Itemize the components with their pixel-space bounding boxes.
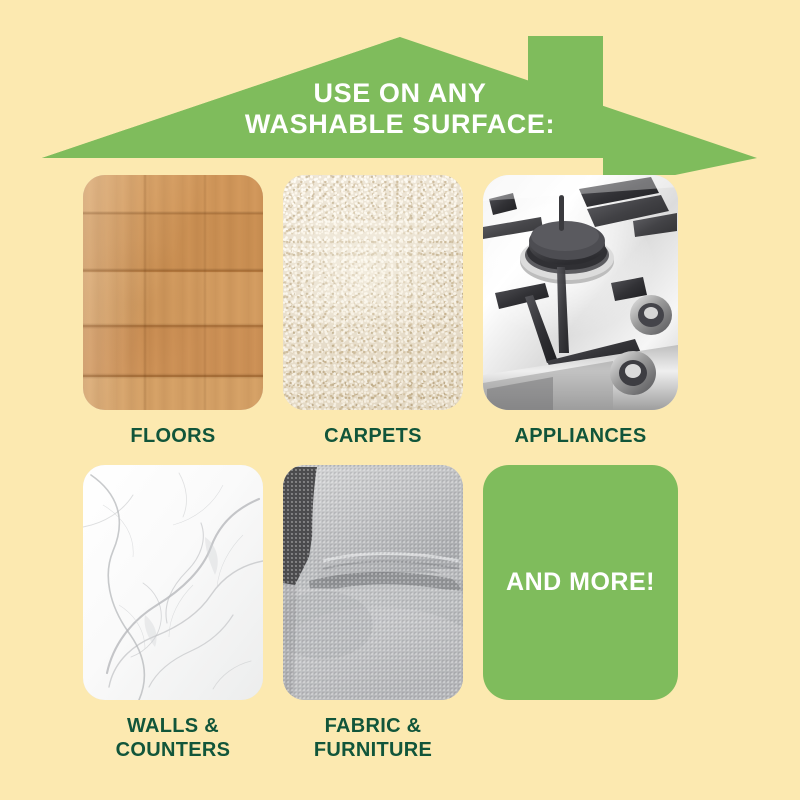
tile-cell-and-more: AND MORE! bbox=[483, 465, 678, 785]
and-more-text: AND MORE! bbox=[506, 568, 655, 597]
page-title: USE ON ANY WASHABLE SURFACE: bbox=[0, 78, 800, 140]
tile-cell-floors: FLOORS bbox=[83, 175, 263, 465]
tile-cell-carpets: CARPETS bbox=[283, 175, 463, 465]
page-title-line-1: USE ON ANY bbox=[0, 78, 800, 109]
tile-image-carpets[interactable] bbox=[283, 175, 463, 410]
wood-floor-icon bbox=[83, 175, 263, 410]
header-roof-banner: USE ON ANY WASHABLE SURFACE: bbox=[0, 0, 800, 175]
page-title-line-2: WASHABLE SURFACE: bbox=[0, 109, 800, 140]
tile-cell-fabric-furniture: FABRIC & FURNITURE bbox=[283, 465, 463, 785]
tile-image-fabric-furniture[interactable] bbox=[283, 465, 463, 700]
marble-texture-icon bbox=[83, 465, 263, 700]
tile-label-appliances: APPLIANCES bbox=[483, 424, 678, 448]
surface-tile-grid: FLOORS CARPETS bbox=[83, 175, 717, 785]
gas-cooktop-icon bbox=[483, 175, 678, 410]
tile-label-walls-counters-line-2: COUNTERS bbox=[83, 738, 263, 762]
tile-label-fabric-furniture-line-1: FABRIC & bbox=[283, 714, 463, 738]
sofa-fabric-icon bbox=[283, 465, 463, 700]
tile-label-fabric-furniture: FABRIC & FURNITURE bbox=[283, 714, 463, 762]
tile-label-floors: FLOORS bbox=[83, 424, 263, 448]
tile-image-appliances[interactable] bbox=[483, 175, 678, 410]
tile-label-floors-line-1: FLOORS bbox=[83, 424, 263, 448]
tile-cell-walls-counters: WALLS & COUNTERS bbox=[83, 465, 263, 785]
tile-label-walls-counters: WALLS & COUNTERS bbox=[83, 714, 263, 762]
tile-image-walls-counters[interactable] bbox=[83, 465, 263, 700]
tile-image-and-more[interactable]: AND MORE! bbox=[483, 465, 678, 700]
tile-image-floors[interactable] bbox=[83, 175, 263, 410]
tile-label-carpets-line-1: CARPETS bbox=[283, 424, 463, 448]
tile-label-walls-counters-line-1: WALLS & bbox=[83, 714, 263, 738]
tile-label-appliances-line-1: APPLIANCES bbox=[483, 424, 678, 448]
carpet-texture-icon bbox=[283, 175, 463, 410]
tile-label-fabric-furniture-line-2: FURNITURE bbox=[283, 738, 463, 762]
tile-label-carpets: CARPETS bbox=[283, 424, 463, 448]
tile-cell-appliances: APPLIANCES bbox=[483, 175, 678, 465]
and-more-panel: AND MORE! bbox=[483, 465, 678, 700]
